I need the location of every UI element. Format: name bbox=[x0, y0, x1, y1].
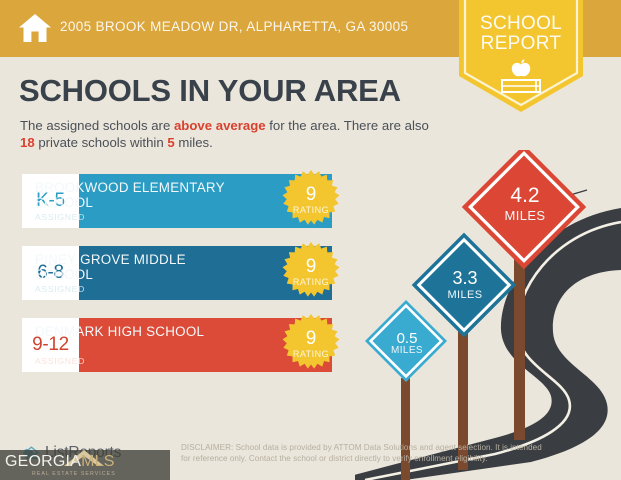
page-subtitle: The assigned schools are above average f… bbox=[20, 117, 440, 151]
rating-label: RATING bbox=[276, 277, 346, 287]
school-name: DENMARK HIGH SCHOOL bbox=[35, 324, 225, 339]
school-name: BROOKWOOD ELEMENTARY SCHOOL bbox=[35, 180, 225, 210]
assigned-label: ASSIGNED bbox=[35, 212, 85, 222]
apple-icon bbox=[512, 59, 530, 76]
subtitle-part-2: for the area. There are also bbox=[266, 118, 429, 133]
watermark-georgia: GEORGIA bbox=[5, 453, 81, 470]
sign-post bbox=[401, 378, 410, 480]
school-report-infographic: 2005 BROOK MEADOW DR, ALPHARETTA, GA 300… bbox=[0, 0, 621, 480]
subtitle-part-4: miles. bbox=[175, 135, 213, 150]
distance-unit: MILES bbox=[381, 345, 433, 357]
distance-value: 4.2 bbox=[488, 187, 562, 204]
distance-unit: MILES bbox=[488, 210, 562, 222]
rating-label: RATING bbox=[276, 205, 346, 215]
badge-title-line1: SCHOOL bbox=[459, 14, 583, 34]
rating-value: 9 bbox=[276, 257, 346, 276]
school-name: PINEY GROVE MIDDLE SCHOOL bbox=[35, 252, 225, 282]
property-address: 2005 BROOK MEADOW DR, ALPHARETTA, GA 300… bbox=[60, 19, 408, 34]
book-icon bbox=[502, 80, 540, 92]
watermark-mls: MLS bbox=[81, 453, 115, 470]
watermark-tagline: REAL ESTATE SERVICES bbox=[32, 471, 116, 477]
sign-post bbox=[514, 248, 525, 440]
rating-value: 9 bbox=[276, 185, 346, 204]
subtitle-highlight-radius: 5 bbox=[167, 135, 174, 150]
rating-label: RATING bbox=[276, 349, 346, 359]
badge-title: SCHOOL REPORT bbox=[459, 14, 583, 54]
assigned-label: ASSIGNED bbox=[35, 356, 85, 366]
assigned-label: ASSIGNED bbox=[35, 284, 85, 294]
apple-and-book-icon bbox=[496, 58, 546, 100]
georgia-mls-watermark: GEORGIAMLS REAL ESTATE SERVICES bbox=[0, 450, 170, 480]
road-distance-scene: 0.5 MILES 3.3 MILES 4.2 MILES bbox=[355, 150, 621, 480]
badge-title-line2: REPORT bbox=[459, 34, 583, 54]
school-row[interactable]: K-5 BROOKWOOD ELEMENTARY SCHOOL ASSIGNED… bbox=[22, 174, 332, 228]
distance-value: 3.3 bbox=[434, 270, 496, 287]
school-row[interactable]: 6-8 PINEY GROVE MIDDLE SCHOOL ASSIGNED 9… bbox=[22, 246, 332, 300]
badge-icons bbox=[459, 58, 583, 105]
rating-value: 9 bbox=[276, 329, 346, 348]
page-title: SCHOOLS IN YOUR AREA bbox=[19, 73, 401, 109]
home-icon bbox=[18, 12, 52, 44]
distance-unit: MILES bbox=[434, 289, 496, 301]
subtitle-highlight-count: 18 bbox=[20, 135, 35, 150]
subtitle-part-1: The assigned schools are bbox=[20, 118, 174, 133]
subtitle-highlight-rating: above average bbox=[174, 118, 266, 133]
watermark-title: GEORGIAMLS bbox=[5, 453, 115, 471]
disclaimer-text: DISCLAIMER: School data is provided by A… bbox=[181, 443, 543, 464]
subtitle-part-3: private schools within bbox=[35, 135, 168, 150]
school-row[interactable]: 9-12 DENMARK HIGH SCHOOL ASSIGNED 9 RATI… bbox=[22, 318, 332, 372]
